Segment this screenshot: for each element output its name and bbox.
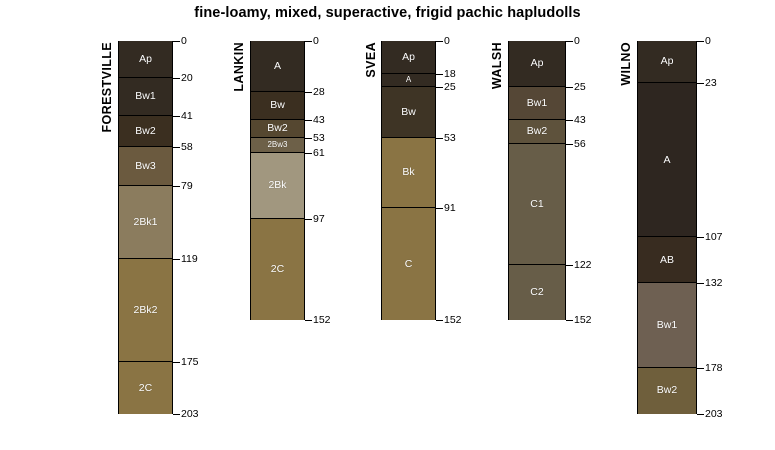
- depth-tick: [173, 78, 180, 79]
- horizon-band[interactable]: Ap: [119, 41, 172, 78]
- profile-column-lankin[interactable]: ABwBw22Bw32Bk2C: [250, 41, 305, 320]
- profile-column-svea[interactable]: ApABwBkC: [381, 41, 436, 320]
- horizon-label: Bw1: [527, 98, 547, 109]
- depth-label: 0: [574, 36, 580, 47]
- profile-name-wilno: WILNO: [619, 42, 633, 86]
- horizon-label: Bw2: [527, 126, 547, 137]
- profile-name-forestville: FORESTVILLE: [100, 42, 114, 133]
- depth-label: 97: [313, 214, 325, 225]
- horizon-label: 2Bk1: [134, 217, 158, 228]
- horizon-label: A: [663, 155, 670, 166]
- depth-tick: [173, 186, 180, 187]
- depth-label: 18: [444, 69, 456, 80]
- horizon-band[interactable]: Bw2: [638, 368, 696, 414]
- depth-label: 28: [313, 87, 325, 98]
- horizon-band[interactable]: Bw2: [251, 120, 304, 138]
- horizon-band[interactable]: C2: [509, 265, 565, 320]
- horizon-band[interactable]: Bw3: [119, 147, 172, 186]
- horizon-band[interactable]: 2Bk: [251, 153, 304, 219]
- horizon-band[interactable]: Ap: [509, 41, 565, 87]
- page-title: fine-loamy, mixed, superactive, frigid p…: [0, 5, 775, 21]
- horizon-band[interactable]: 2Bw3: [251, 138, 304, 153]
- depth-label: 175: [181, 357, 199, 368]
- depth-label: 41: [181, 111, 193, 122]
- depth-label: 152: [444, 315, 462, 326]
- depth-label: 0: [444, 36, 450, 47]
- horizon-label: C1: [530, 199, 543, 210]
- depth-label: 107: [705, 232, 723, 243]
- horizon-band[interactable]: 2C: [119, 362, 172, 413]
- horizon-label: Ap: [402, 52, 415, 63]
- horizon-band[interactable]: A: [382, 74, 435, 87]
- depth-label: 25: [574, 82, 586, 93]
- depth-tick: [173, 41, 180, 42]
- horizon-label: C: [405, 259, 413, 270]
- horizon-band[interactable]: Bw: [251, 92, 304, 120]
- horizon-label: Bw1: [135, 91, 155, 102]
- horizon-band[interactable]: Bk: [382, 138, 435, 208]
- horizon-band[interactable]: Ap: [638, 41, 696, 83]
- depth-tick: [697, 83, 704, 84]
- horizon-band[interactable]: Ap: [382, 41, 435, 74]
- profile-column-forestville[interactable]: ApBw1Bw2Bw32Bk12Bk22C: [118, 41, 173, 414]
- depth-label: 43: [574, 115, 586, 126]
- depth-tick: [697, 41, 704, 42]
- depth-tick: [305, 41, 312, 42]
- depth-tick: [566, 144, 573, 145]
- horizon-label: 2C: [271, 264, 284, 275]
- horizon-label: Ap: [139, 54, 152, 65]
- horizon-band[interactable]: C1: [509, 144, 565, 265]
- depth-tick: [173, 147, 180, 148]
- horizon-band[interactable]: Bw1: [509, 87, 565, 120]
- depth-label: 91: [444, 203, 456, 214]
- horizon-label: Bw: [270, 100, 285, 111]
- horizon-label: Ap: [531, 58, 544, 69]
- horizon-band[interactable]: A: [638, 83, 696, 237]
- depth-label: 178: [705, 363, 723, 374]
- depth-tick: [305, 92, 312, 93]
- horizon-band[interactable]: 2Bk1: [119, 186, 172, 259]
- depth-label: 122: [574, 260, 592, 271]
- horizon-label: Bw1: [657, 320, 677, 331]
- depth-label: 53: [444, 133, 456, 144]
- depth-label: 23: [705, 78, 717, 89]
- profile-name-svea: SVEA: [364, 42, 378, 78]
- depth-tick: [305, 320, 312, 321]
- horizon-label: C2: [530, 287, 543, 298]
- depth-tick: [436, 208, 443, 209]
- depth-tick: [697, 283, 704, 284]
- depth-tick: [436, 138, 443, 139]
- depth-label: 20: [181, 73, 193, 84]
- horizon-band[interactable]: Bw1: [638, 283, 696, 367]
- horizon-band[interactable]: Bw1: [119, 78, 172, 117]
- horizon-label: 2Bw3: [267, 141, 287, 149]
- depth-tick: [436, 41, 443, 42]
- horizon-band[interactable]: 2Bk2: [119, 259, 172, 362]
- profile-column-walsh[interactable]: ApBw1Bw2C1C2: [508, 41, 566, 320]
- horizon-band[interactable]: 2C: [251, 219, 304, 320]
- depth-label: 53: [313, 133, 325, 144]
- depth-label: 152: [313, 315, 331, 326]
- horizon-label: Bw2: [657, 385, 677, 396]
- depth-tick: [436, 74, 443, 75]
- depth-tick: [173, 414, 180, 415]
- horizon-label: Bw3: [135, 161, 155, 172]
- depth-label: 79: [181, 181, 193, 192]
- depth-tick: [566, 41, 573, 42]
- depth-label: 61: [313, 148, 325, 159]
- depth-label: 203: [705, 409, 723, 420]
- depth-tick: [436, 320, 443, 321]
- depth-tick: [697, 368, 704, 369]
- horizon-label: 2Bk: [268, 180, 286, 191]
- depth-label: 203: [181, 409, 199, 420]
- depth-label: 0: [705, 36, 711, 47]
- depth-tick: [697, 414, 704, 415]
- depth-tick: [566, 120, 573, 121]
- horizon-label: Bw: [401, 107, 416, 118]
- depth-tick: [305, 120, 312, 121]
- horizon-label: Bw2: [135, 126, 155, 137]
- depth-label: 0: [313, 36, 319, 47]
- depth-tick: [697, 237, 704, 238]
- depth-tick: [305, 219, 312, 220]
- horizon-label: 2C: [139, 383, 152, 394]
- depth-tick: [305, 138, 312, 139]
- depth-label: 43: [313, 115, 325, 126]
- depth-tick: [566, 265, 573, 266]
- profile-name-walsh: WALSH: [490, 42, 504, 89]
- depth-label: 152: [574, 315, 592, 326]
- depth-label: 25: [444, 82, 456, 93]
- horizon-band[interactable]: Bw2: [119, 116, 172, 147]
- horizon-band[interactable]: AB: [638, 237, 696, 283]
- depth-label: 119: [181, 254, 198, 265]
- horizon-label: Ap: [661, 56, 674, 67]
- horizon-label: A: [274, 61, 281, 72]
- depth-tick: [566, 87, 573, 88]
- horizon-label: Bw2: [267, 123, 287, 134]
- depth-tick: [173, 362, 180, 363]
- horizon-label: AB: [660, 255, 674, 266]
- horizon-band[interactable]: A: [251, 41, 304, 92]
- horizon-band[interactable]: Bw: [382, 87, 435, 138]
- horizon-band[interactable]: Bw2: [509, 120, 565, 144]
- depth-tick: [173, 259, 180, 260]
- depth-label: 132: [705, 278, 723, 289]
- depth-label: 56: [574, 139, 586, 150]
- depth-tick: [305, 153, 312, 154]
- depth-tick: [173, 116, 180, 117]
- horizon-label: A: [406, 76, 411, 84]
- depth-label: 0: [181, 36, 187, 47]
- depth-tick: [436, 87, 443, 88]
- depth-tick: [566, 320, 573, 321]
- profile-name-lankin: LANKIN: [232, 42, 246, 92]
- horizon-band[interactable]: C: [382, 208, 435, 320]
- horizon-label: 2Bk2: [134, 305, 158, 316]
- horizon-label: Bk: [402, 167, 414, 178]
- profile-column-wilno[interactable]: ApAABBw1Bw2: [637, 41, 697, 414]
- depth-label: 58: [181, 142, 193, 153]
